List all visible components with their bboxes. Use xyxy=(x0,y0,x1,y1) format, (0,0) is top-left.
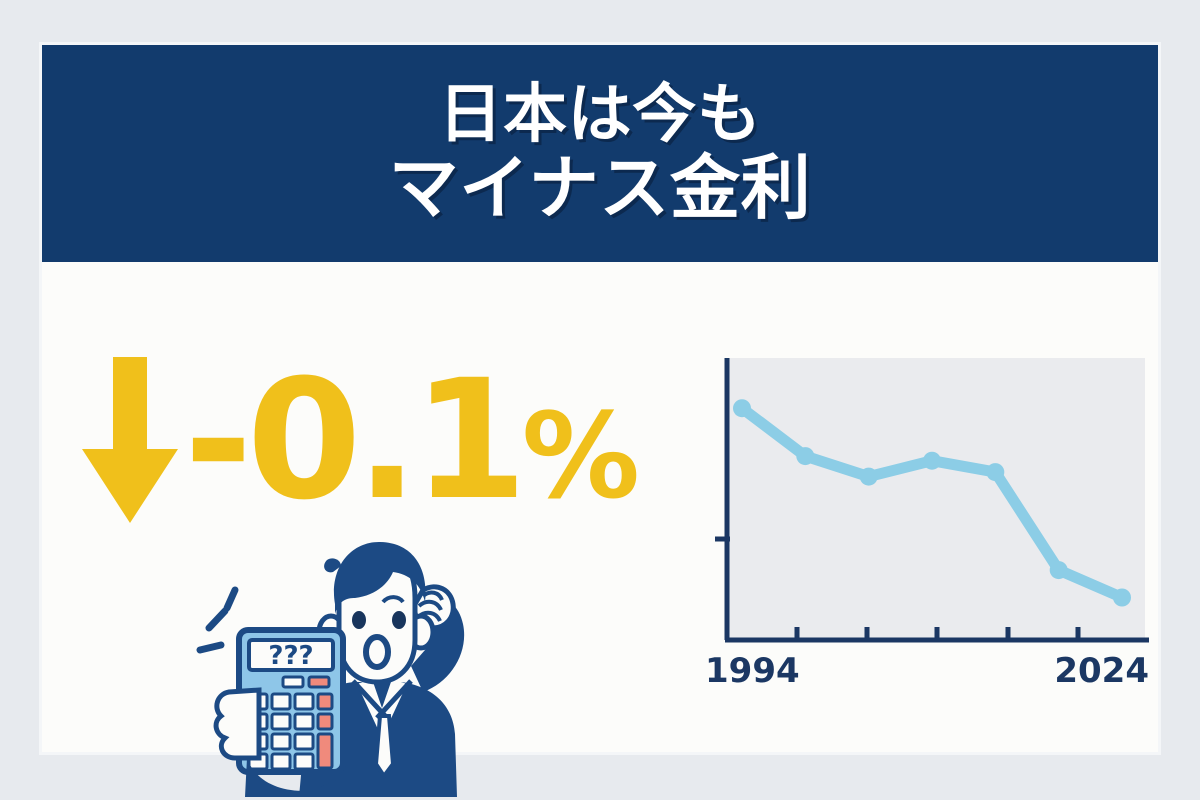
down-arrow-icon xyxy=(82,357,178,523)
necktie xyxy=(376,716,393,776)
eye-left xyxy=(352,611,366,629)
chart-point-2004 xyxy=(860,468,878,486)
poster-root: 日本は今も マイナス金利 -0.1% xyxy=(0,0,1200,800)
chart-svg: 1994 2024 xyxy=(697,350,1157,695)
header-band: 日本は今も マイナス金利 xyxy=(42,45,1158,262)
calculator-key-accent xyxy=(309,677,329,687)
page-title-line-1: 日本は今も xyxy=(438,82,761,149)
plot-background xyxy=(727,358,1145,640)
chart-point-2024 xyxy=(1113,589,1131,607)
chart-point-1999 xyxy=(796,447,814,465)
rate-value: -0.1% xyxy=(184,358,638,523)
x-tick-label-end: 2024 xyxy=(1054,651,1149,691)
mouth xyxy=(366,637,388,667)
rate-block: -0.1% xyxy=(82,340,682,540)
calculator-key xyxy=(283,677,303,687)
chart-point-1994 xyxy=(733,399,751,417)
poster-card: 日本は今も マイナス金利 -0.1% xyxy=(42,45,1158,752)
rate-number: -0.1 xyxy=(184,344,522,536)
chart-point-2014 xyxy=(986,463,1004,481)
eye-right xyxy=(392,611,406,629)
holding-hand xyxy=(216,690,259,758)
page-title-line-2: マイナス金利 xyxy=(389,152,812,225)
calculator-display-value: ??? xyxy=(268,641,313,671)
rate-unit: % xyxy=(522,387,638,525)
chart-point-2009 xyxy=(923,452,941,470)
surprise-lines-icon xyxy=(200,590,235,650)
x-tick-label-start: 1994 xyxy=(705,651,800,691)
body-area: -0.1% xyxy=(42,262,1158,752)
interest-rate-chart: 1994 2024 xyxy=(697,350,1157,695)
chart-point-2019 xyxy=(1050,561,1068,579)
confused-businessman-illustration: ??? xyxy=(187,532,497,797)
